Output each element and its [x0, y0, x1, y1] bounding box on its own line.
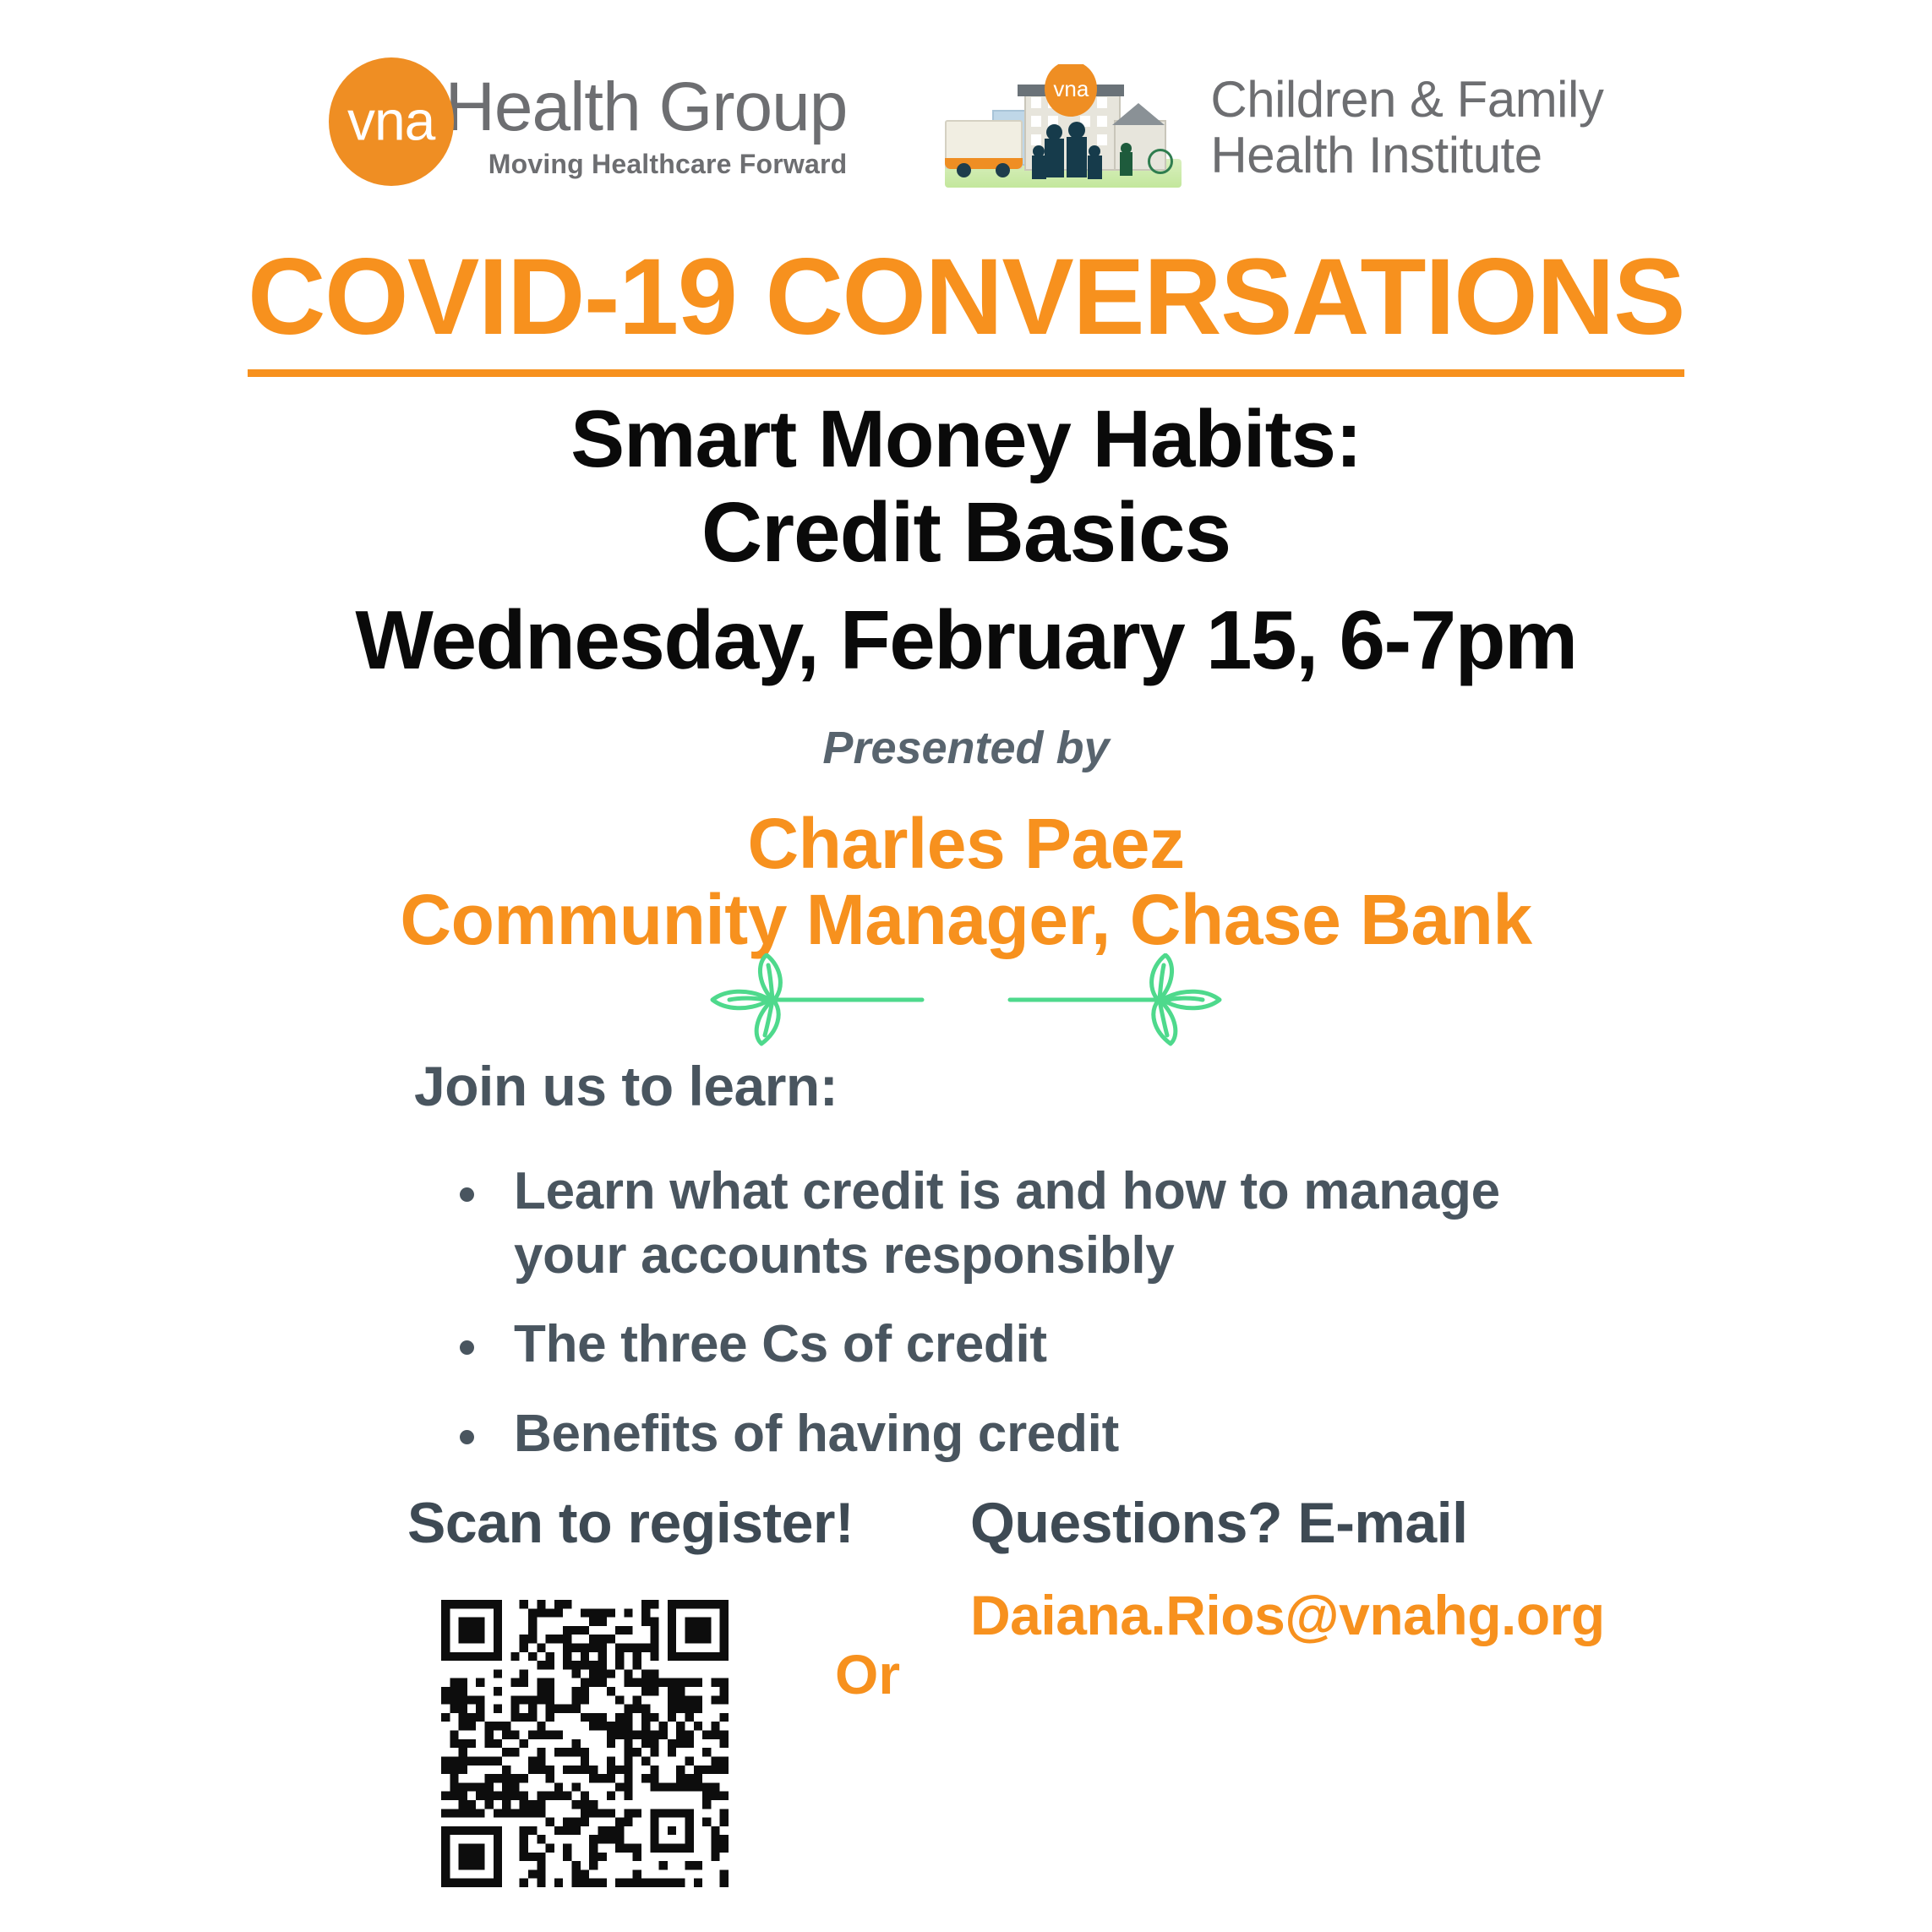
or-label: Or — [835, 1646, 900, 1702]
registration-qr-code[interactable] — [441, 1600, 729, 1887]
vna-ellipse-icon: vna — [329, 57, 454, 186]
window-shape — [1097, 97, 1107, 108]
cfhi-line1: Children & Family — [1210, 72, 1603, 128]
page-title-text: COVID-19 CONVERSATIONS — [248, 237, 1684, 377]
learn-heading: Join us to learn: — [414, 1058, 838, 1114]
presenter-name: Charles Paez — [0, 808, 1932, 879]
vna-title: Health Group — [445, 74, 848, 140]
event-subtitle-line1: Smart Money Habits: — [0, 399, 1932, 480]
logo-row: vna Health Group Moving Healthcare Forwa… — [0, 52, 1932, 213]
leaf-divider-icon — [704, 953, 1228, 1046]
vna-tagline: Moving Healthcare Forward — [445, 149, 848, 180]
child-body-shape — [1032, 156, 1046, 179]
qr-code-icon[interactable] — [441, 1600, 729, 1887]
list-item: Benefits of having credit — [436, 1402, 1535, 1466]
cfhi-wordmark: Children & Family Health Institute — [1210, 72, 1603, 183]
vna-wordmark: Health Group Moving Healthcare Forward — [445, 52, 848, 180]
scan-to-register-heading: Scan to register! — [407, 1494, 854, 1552]
list-item: Learn what credit is and how to manage y… — [436, 1160, 1535, 1287]
learn-bullet-list: Learn what credit is and how to manage y… — [436, 1160, 1535, 1492]
questions-email-heading: Questions? E-mail — [970, 1494, 1468, 1552]
list-item: The three Cs of credit — [436, 1313, 1535, 1377]
child-body-shape — [1088, 156, 1102, 179]
window-shape — [1031, 116, 1041, 127]
window-shape — [1031, 134, 1041, 145]
event-datetime: Wednesday, February 15, 6-7pm — [0, 598, 1932, 681]
person-body-shape — [1120, 152, 1132, 176]
presented-by-label: Presented by — [0, 725, 1932, 771]
presenter-role: Community Manager, Chase Bank — [0, 884, 1932, 955]
window-shape — [1097, 116, 1107, 127]
window-shape — [1031, 97, 1041, 108]
page-title: COVID-19 CONVERSATIONS — [0, 243, 1932, 352]
cfhi-line2: Health Institute — [1210, 128, 1603, 183]
children-family-health-institute-logo: vna Children & Family Health Institute — [940, 56, 1603, 199]
vna-health-group-logo: vna Health Group Moving Healthcare Forwa… — [329, 52, 848, 196]
vna-mark-text: vna — [329, 93, 454, 149]
cfhi-illustration-icon: vna — [940, 64, 1185, 191]
contact-email[interactable]: Daiana.Rios@vnahg.org — [970, 1587, 1605, 1643]
window-shape — [1097, 134, 1107, 145]
leaf-divider — [0, 953, 1932, 1046]
house-roof-shape — [1112, 103, 1165, 125]
flyer-page: vna Health Group Moving Healthcare Forwa… — [0, 0, 1932, 1932]
event-subtitle-line2: Credit Basics — [0, 490, 1932, 575]
person-body-shape — [1067, 137, 1087, 177]
person-body-shape — [1045, 139, 1064, 177]
